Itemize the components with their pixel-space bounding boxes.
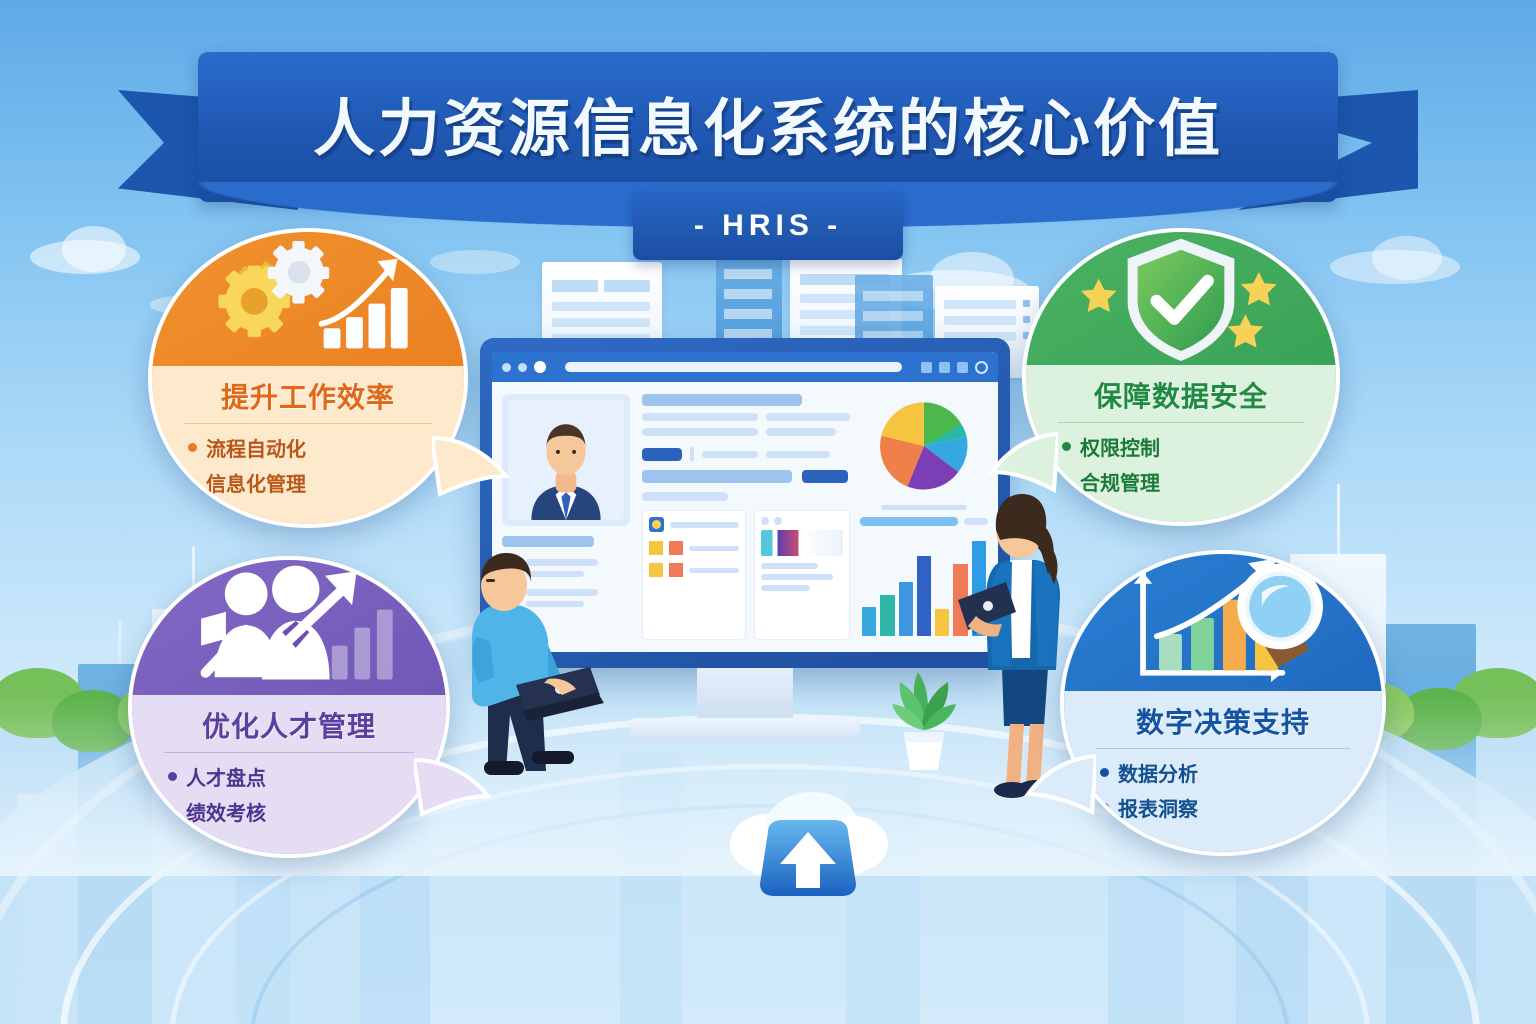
bubble-bullets: 人才盘点 绩效考核 [146,759,432,829]
bubble-talent[interactable]: 优化人才管理 人才盘点 绩效考核 [128,556,450,858]
bubble-bullets: 权限控制 合规管理 [1040,429,1322,499]
list-item: 流程自动化 [166,430,450,465]
cloud-upload-icon [708,786,908,906]
monitor-stand-base [630,718,860,740]
bubble-tail-decision [1022,750,1096,818]
bubble-text-area: 提升工作效率 流程自动化 信息化管理 [152,366,464,524]
window-dot [518,363,527,372]
divider [1096,748,1350,749]
bar [899,582,913,636]
bullet-icon [188,478,197,487]
bullet-icon [1062,477,1071,486]
list-item: 信息化管理 [166,465,450,500]
list-item: 数据分析 [1078,755,1368,790]
list-item: 权限控制 [1040,429,1322,464]
address-bar[interactable] [565,362,902,372]
media-card [754,510,850,640]
divider [164,752,414,753]
bullet-label: 流程自动化 [206,433,306,462]
list-item: 人才盘点 [146,759,432,794]
bar [880,595,894,636]
bubble-decision[interactable]: 数字决策支持 数据分析 报表洞察 [1060,550,1386,856]
bubble-icon-area [152,232,464,366]
status-icon [649,517,664,532]
bubble-tail-efficiency [432,432,512,502]
people-growth-arrow-icon [132,560,446,695]
legend-swatch [669,541,683,555]
divider [184,423,432,424]
legend-swatch [649,563,663,577]
bubble-icon-area [132,560,446,695]
bullet-label: 绩效考核 [186,797,266,826]
bullet-icon [168,772,177,781]
bubble-title: 优化人才管理 [146,705,432,745]
refresh-icon[interactable] [975,361,988,374]
banner-subtitle-plate: - HRIS - [633,192,903,260]
bullet-icon [1062,442,1071,451]
bullet-icon [188,443,197,452]
bullet-label: 人才盘点 [186,762,266,791]
monitor-stand-neck [697,668,793,722]
bubble-icon-area [1064,554,1382,691]
bubble-tail-talent [414,754,494,822]
legend-swatch [649,541,663,555]
list-item: 合规管理 [1040,464,1322,499]
avatar [508,400,624,520]
bar [862,607,876,636]
bullet-icon [1100,768,1109,777]
divider [1058,422,1304,423]
bar-chart-magnifier-icon [1064,554,1382,691]
banner-subtitle: - HRIS - [694,209,842,243]
avatar-card [502,394,630,526]
bar [917,556,931,636]
banner: 人力资源信息化系统的核心价值 - HRIS - [0,52,1536,222]
bullet-icon [1100,803,1109,812]
detail-column [642,394,850,640]
toolbar-square-icon[interactable] [939,362,950,373]
bullet-icon [168,807,177,816]
bullet-label: 报表洞察 [1118,793,1198,822]
infographic-canvas: 人力资源信息化系统的核心价值 - HRIS - [0,0,1536,1024]
bubble-text-area: 优化人才管理 人才盘点 绩效考核 [132,695,446,854]
bubble-title: 提升工作效率 [166,376,450,416]
shield-check-stars-icon [1026,232,1336,365]
bubble-text-area: 保障数据安全 权限控制 合规管理 [1026,365,1336,522]
bubble-tail-compliance [988,428,1058,496]
window-dot [502,363,511,372]
bubble-efficiency[interactable]: 提升工作效率 流程自动化 信息化管理 [148,228,468,528]
list-item: 报表洞察 [1078,790,1368,825]
bubble-icon-area [1026,232,1336,365]
list-item: 绩效考核 [146,794,432,829]
window-dot [534,361,546,373]
legend-swatch [669,563,683,577]
bubble-bullets: 数据分析 报表洞察 [1078,755,1368,825]
potted-plant [880,644,968,774]
bubble-title: 数字决策支持 [1078,701,1368,741]
toolbar-square-icon[interactable] [921,362,932,373]
bullet-label: 信息化管理 [206,468,306,497]
bullet-label: 数据分析 [1118,758,1198,787]
browser-titlebar [492,352,998,382]
pie-chart [872,394,976,498]
bullet-label: 合规管理 [1080,467,1160,496]
checklist-card [642,510,746,640]
bubble-compliance[interactable]: 保障数据安全 权限控制 合规管理 [1022,228,1340,526]
bullet-label: 权限控制 [1080,432,1160,461]
bubble-text-area: 数字决策支持 数据分析 报表洞察 [1064,691,1382,852]
toolbar-square-icon[interactable] [957,362,968,373]
bubble-bullets: 流程自动化 信息化管理 [166,430,450,500]
gears-growth-chart-icon [152,232,464,366]
bubble-title: 保障数据安全 [1040,375,1322,415]
page-title: 人力资源信息化系统的核心价值 [0,78,1536,168]
